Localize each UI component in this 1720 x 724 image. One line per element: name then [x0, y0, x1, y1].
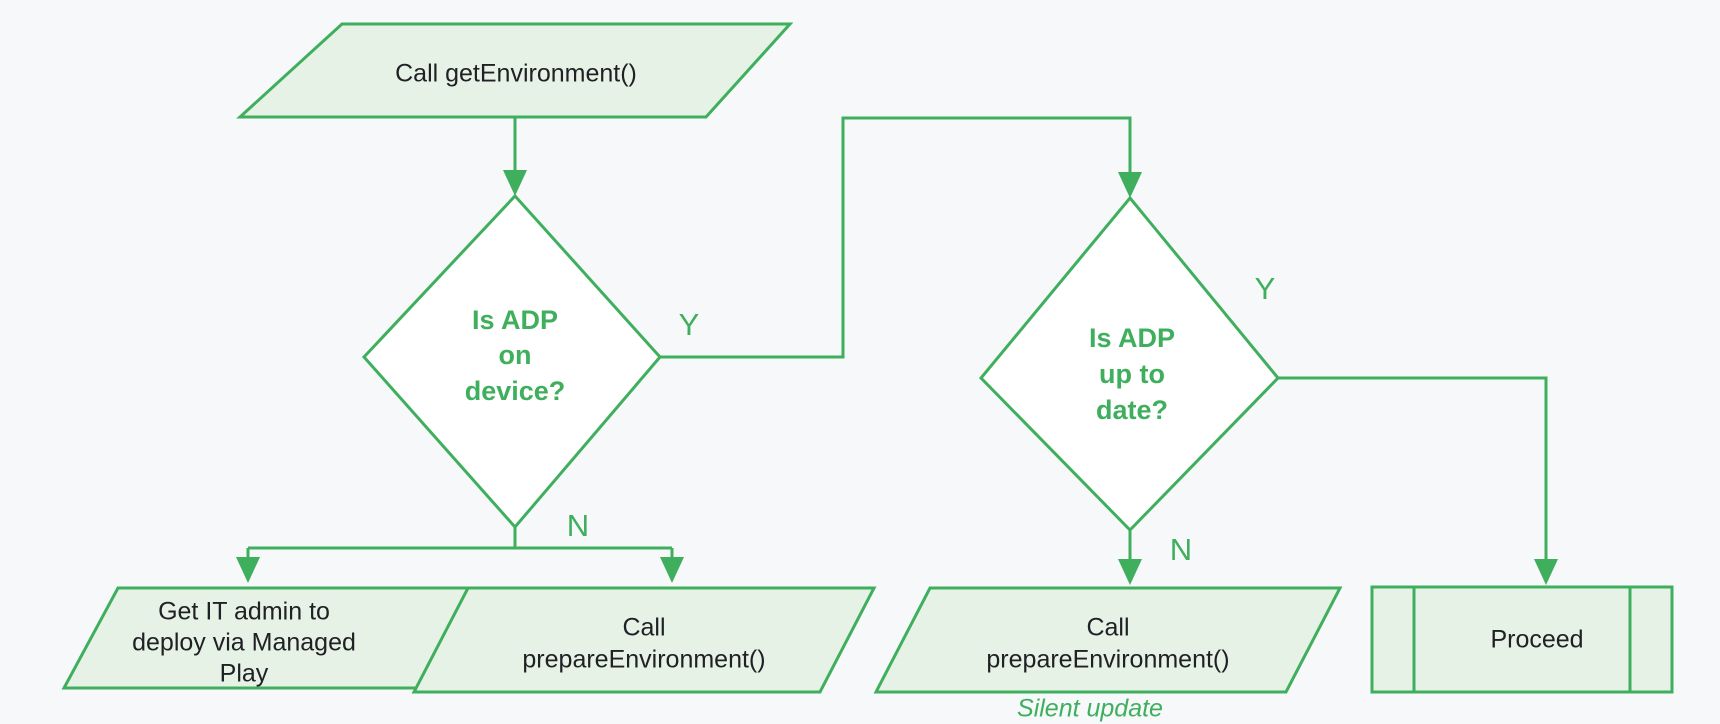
- decision-on-device-line2: on: [499, 340, 532, 370]
- node-prepare-environment-right[interactable]: Call prepareEnvironment(): [876, 588, 1340, 692]
- edge-up-to-date-yes-to-proceed: [1278, 378, 1558, 585]
- node-get-it-admin-line1: Get IT admin to: [158, 598, 330, 626]
- edge-start-to-on-device: [503, 117, 527, 196]
- node-proceed-label: Proceed: [1490, 626, 1583, 654]
- flowchart-diagram: Call getEnvironment() Is ADP on device? …: [0, 0, 1720, 724]
- node-decision-is-adp-up-to-date[interactable]: Is ADP up to date?: [981, 198, 1278, 530]
- edge-up-to-date-no-to-prepare-env: [1118, 530, 1142, 585]
- flowchart-canvas: Call getEnvironment() Is ADP on device? …: [0, 0, 1720, 724]
- decision-up-to-date-line2: up to: [1099, 359, 1165, 389]
- decision-up-to-date-line1: Is ADP: [1089, 323, 1175, 353]
- node-prepare-environment-right-line2: prepareEnvironment(): [986, 646, 1229, 674]
- decision-up-to-date-line3: date?: [1096, 395, 1168, 425]
- branch-label-up-to-date-yes: Y: [1255, 271, 1276, 306]
- branch-label-on-device-yes: Y: [679, 307, 700, 342]
- branch-label-up-to-date-no: N: [1170, 532, 1192, 567]
- annotation-silent-update: Silent update: [1017, 695, 1163, 723]
- node-prepare-environment-left-line1: Call: [622, 614, 665, 642]
- decision-on-device-line1: Is ADP: [472, 305, 558, 335]
- node-prepare-environment-left-line2: prepareEnvironment(): [522, 646, 765, 674]
- node-get-it-admin[interactable]: Get IT admin to deploy via Managed Play: [64, 588, 474, 688]
- node-decision-is-adp-on-device[interactable]: Is ADP on device?: [364, 196, 660, 527]
- branch-label-on-device-no: N: [567, 508, 589, 543]
- node-get-it-admin-line3: Play: [220, 660, 269, 688]
- node-prepare-environment-right-line1: Call: [1086, 614, 1129, 642]
- node-call-get-environment-label: Call getEnvironment(): [395, 60, 637, 88]
- node-get-it-admin-line2: deploy via Managed: [132, 629, 356, 657]
- node-prepare-environment-left[interactable]: Call prepareEnvironment(): [414, 588, 874, 692]
- node-proceed[interactable]: Proceed: [1372, 587, 1672, 692]
- node-call-get-environment[interactable]: Call getEnvironment(): [240, 24, 790, 117]
- decision-on-device-line3: device?: [465, 376, 566, 406]
- edge-on-device-no-split: [236, 527, 684, 583]
